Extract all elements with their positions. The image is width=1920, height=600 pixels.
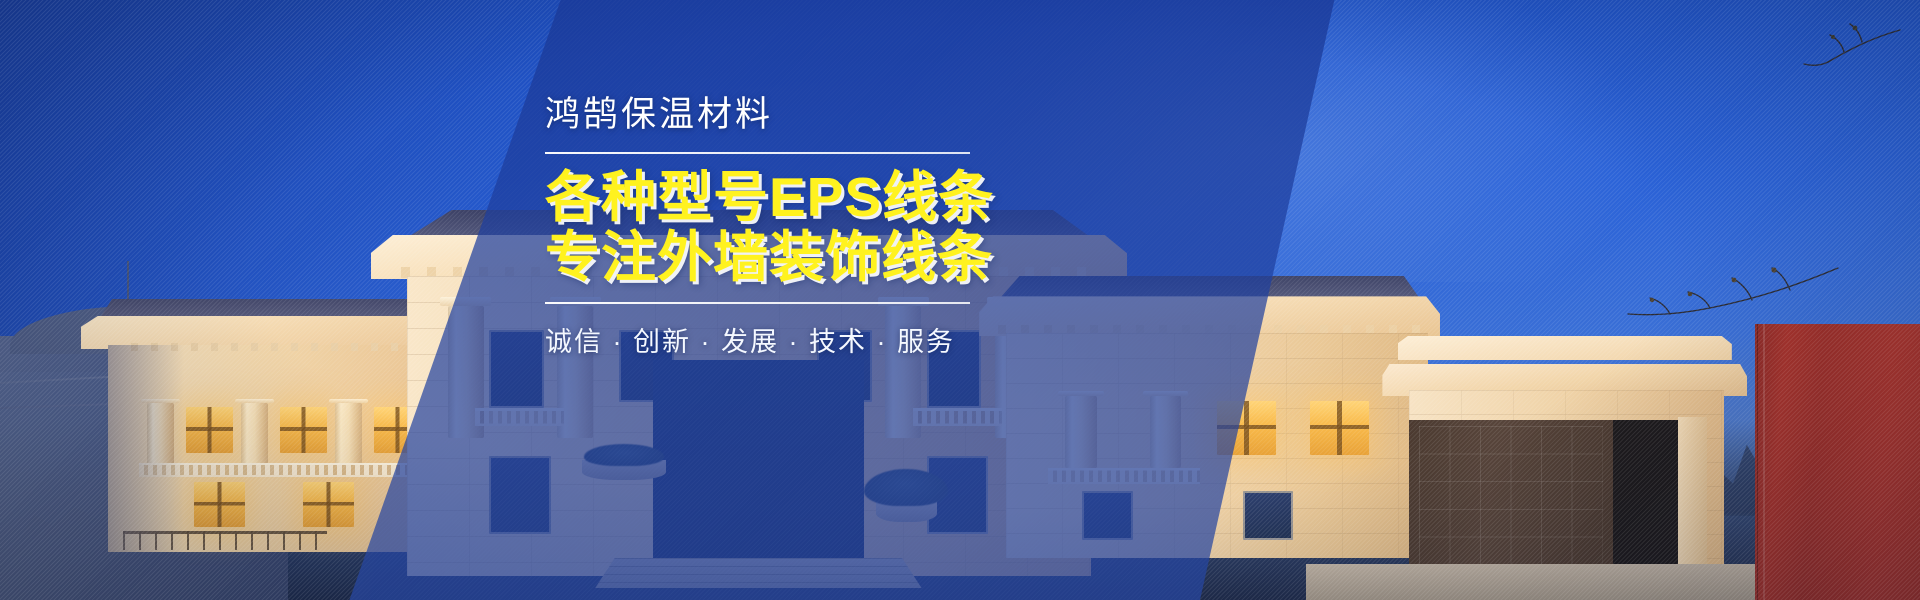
lit-window	[186, 407, 233, 453]
column	[1065, 396, 1097, 468]
right-wing-facade	[1006, 333, 1428, 558]
hedge-plant	[864, 469, 948, 506]
balustrade	[913, 408, 1002, 426]
hedge-plant	[584, 444, 665, 466]
hero-banner: 鸿鹄保温材料 各种型号EPS线条 专注外墙装饰线条 诚信 · 创新 · 发展 ·…	[0, 0, 1920, 600]
headline-line-2: 专注外墙装饰线条	[545, 228, 1015, 287]
window	[489, 330, 544, 408]
lit-window	[303, 482, 354, 528]
main-entrance	[653, 360, 864, 576]
column	[241, 403, 268, 465]
column	[1150, 396, 1182, 468]
window	[1082, 491, 1133, 541]
left-wing-shadow	[108, 345, 185, 552]
window	[489, 456, 551, 534]
right-wing-cornice	[979, 296, 1440, 336]
lit-window	[1217, 401, 1276, 455]
brand-subtitle: 鸿鹄保温材料	[545, 95, 1015, 135]
banner-text-block: 鸿鹄保温材料 各种型号EPS线条 专注外墙装饰线条 诚信 · 创新 · 发展 ·…	[545, 95, 1015, 359]
headline-line-1: 各种型号EPS线条	[545, 166, 994, 228]
lit-window	[1310, 401, 1369, 455]
column	[335, 403, 362, 465]
driveway-apron	[1306, 564, 1767, 600]
right-wing-roof	[998, 276, 1420, 300]
divider-top	[545, 152, 970, 154]
garage-door	[1409, 420, 1613, 570]
garage-opening	[1613, 420, 1678, 570]
window	[1243, 491, 1294, 541]
tagline: 诚信 · 创新 · 发展 · 技术 · 服务	[545, 320, 1015, 359]
garage-door-jamb	[1678, 417, 1707, 573]
divider-bottom	[545, 302, 970, 304]
lit-window	[280, 407, 327, 453]
balustrade	[475, 408, 564, 426]
balustrade	[1048, 468, 1200, 484]
lit-window	[194, 482, 245, 528]
red-wall	[1755, 324, 1920, 600]
entrance-steps	[595, 558, 921, 588]
garage-cornice-upper	[1398, 336, 1732, 360]
headline: 各种型号EPS线条 专注外墙装饰线条	[545, 168, 1015, 287]
